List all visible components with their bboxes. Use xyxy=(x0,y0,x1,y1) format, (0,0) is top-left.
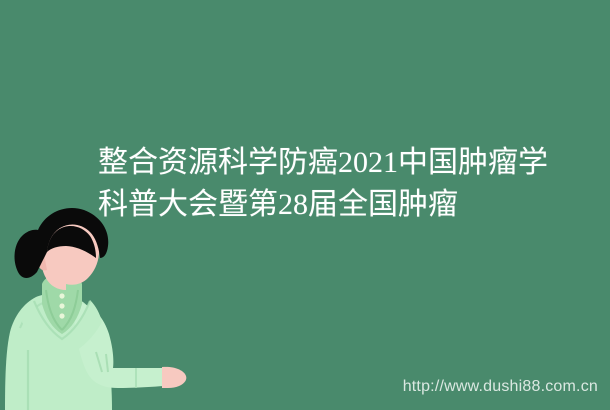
watermark-url: http://www.dushi88.com.cn xyxy=(403,378,598,396)
person-illustration-svg xyxy=(0,200,200,410)
person-illustration xyxy=(0,200,200,410)
poster-title-block: 整合资源科学防癌2021中国肿瘤学科普大会暨第28届全国肿瘤 xyxy=(98,142,568,226)
poster-canvas: 整合资源科学防癌2021中国肿瘤学科普大会暨第28届全国肿瘤 http://ww… xyxy=(0,0,610,410)
collar-button-3 xyxy=(59,313,64,318)
collar-button-2 xyxy=(59,303,64,308)
collar-button-1 xyxy=(59,293,64,298)
page-title: 整合资源科学防癌2021中国肿瘤学科普大会暨第28届全国肿瘤 xyxy=(98,142,568,226)
hand xyxy=(162,367,186,388)
